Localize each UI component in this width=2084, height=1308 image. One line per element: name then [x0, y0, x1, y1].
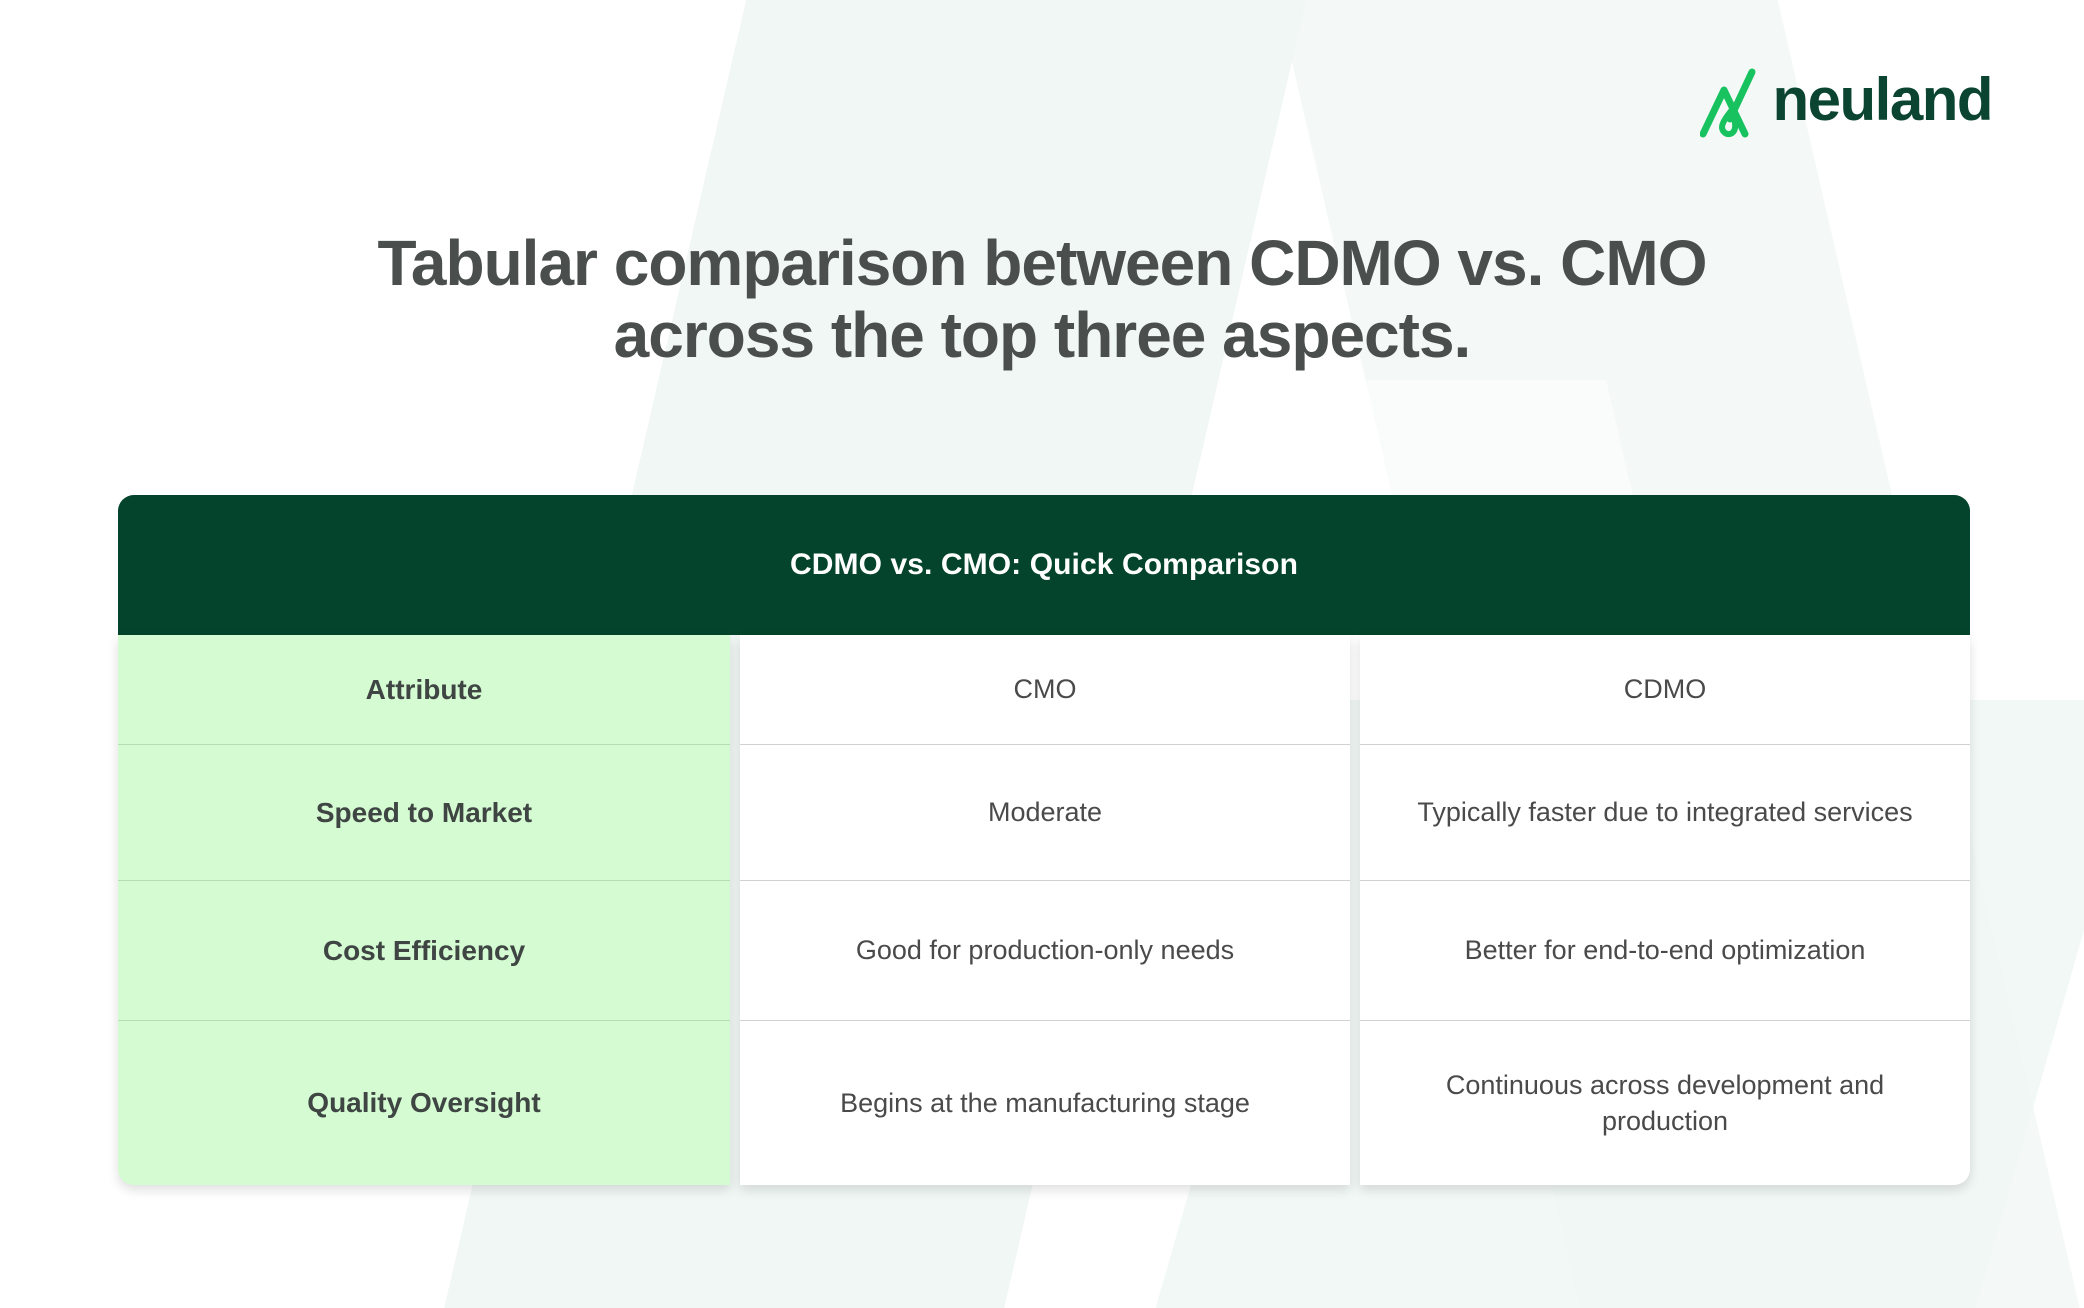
table-row: CMO	[740, 635, 1350, 745]
table-title: CDMO vs. CMO: Quick Comparison	[790, 548, 1298, 582]
table-row: Cost Efficiency	[118, 881, 730, 1021]
table-row: Quality Oversight	[118, 1021, 730, 1185]
table-body: Attribute Speed to Market Cost Efficienc…	[118, 635, 1970, 1185]
column-cmo: CMO Moderate Good for production-only ne…	[740, 635, 1350, 1185]
brand-logo: neuland	[1700, 62, 1992, 138]
brand-wordmark: neuland	[1772, 70, 1992, 130]
page-title-line-2: across the top three aspects.	[190, 300, 1894, 372]
table-row: Good for production-only needs	[740, 881, 1350, 1021]
table-title-bar: CDMO vs. CMO: Quick Comparison	[118, 495, 1970, 635]
table-row: Speed to Market	[118, 745, 730, 881]
column-cdmo: CDMO Typically faster due to integrated …	[1360, 635, 1970, 1185]
table-row: Continuous across development and produc…	[1360, 1021, 1970, 1185]
table-row: Moderate	[740, 745, 1350, 881]
table-row: Better for end-to-end optimization	[1360, 881, 1970, 1021]
table-row: Typically faster due to integrated servi…	[1360, 745, 1970, 881]
comparison-table: CDMO vs. CMO: Quick Comparison Attribute…	[118, 495, 1970, 1185]
page-title-line-1: Tabular comparison between CDMO vs. CMO	[190, 228, 1894, 300]
table-row: Begins at the manufacturing stage	[740, 1021, 1350, 1185]
table-row: CDMO	[1360, 635, 1970, 745]
column-attribute: Attribute Speed to Market Cost Efficienc…	[118, 635, 730, 1185]
neuland-n-droplet-icon	[1700, 62, 1758, 138]
table-row: Attribute	[118, 635, 730, 745]
page-title: Tabular comparison between CDMO vs. CMO …	[0, 228, 2084, 371]
